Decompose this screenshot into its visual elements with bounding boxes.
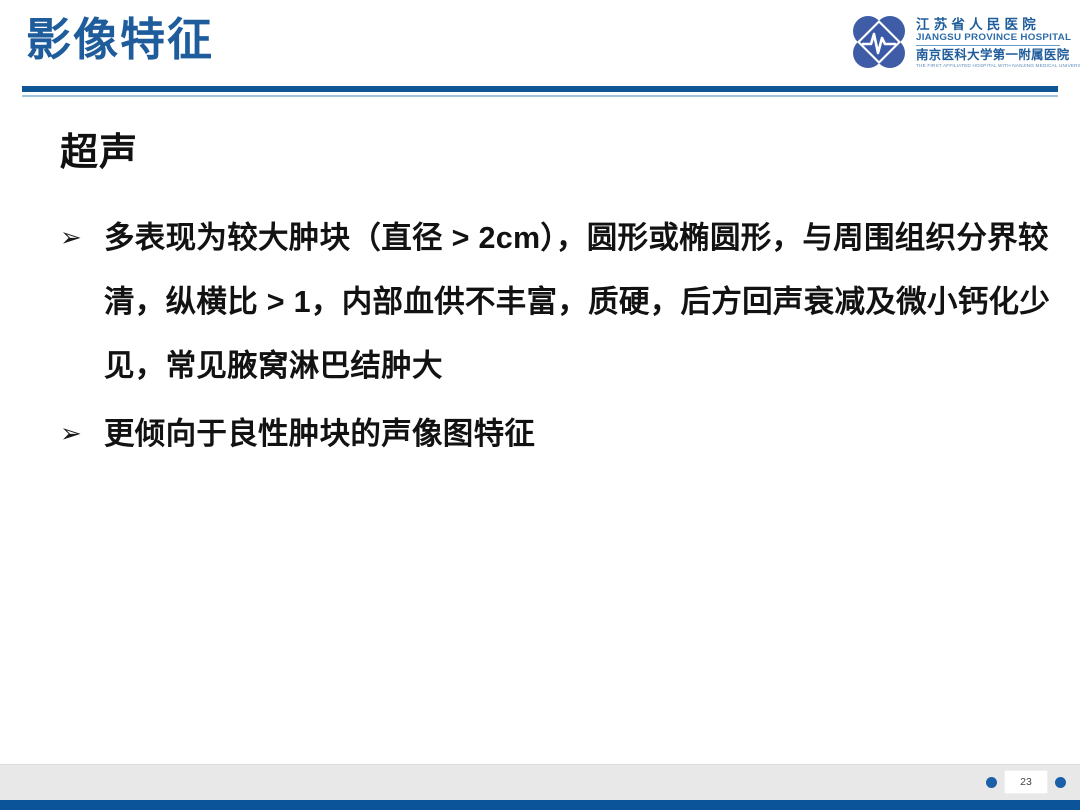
bullet-text: 多表现为较大肿块（直径 > 2cm），圆形或椭圆形，与周围组织分界较清，纵横比 … [104,206,1056,398]
hospital-affiliation-cn: 南京医科大学第一附属医院 [916,48,1080,62]
hospital-name-en: JIANGSU PROVINCE HOSPITAL [916,32,1080,43]
footer-band [0,764,1080,801]
hospital-logo-text: 江苏省人民医院 JIANGSU PROVINCE HOSPITAL 南京医科大学… [916,15,1080,69]
header-divider-thick [22,86,1058,92]
header-divider-thin [22,95,1058,97]
arrow-bullet-icon: ➢ [56,402,104,466]
pager-next-dot[interactable] [1055,777,1066,788]
slide-pager: 23 [986,770,1066,794]
logo-divider [916,45,1060,46]
bullet-list: ➢ 多表现为较大肿块（直径 > 2cm），圆形或椭圆形，与周围组织分界较清，纵横… [56,206,1056,470]
arrow-bullet-icon: ➢ [56,206,104,270]
footer-bar [0,800,1080,810]
hospital-flower-ecg-icon [848,11,910,73]
page-title: 影像特征 [26,8,214,72]
hospital-name-cn: 江苏省人民医院 [916,17,1080,32]
list-item: ➢ 更倾向于良性肿块的声像图特征 [56,402,1056,466]
pager-prev-dot[interactable] [986,777,997,788]
page-number: 23 [1004,770,1048,794]
bullet-text: 更倾向于良性肿块的声像图特征 [104,402,1056,466]
hospital-logo: 江苏省人民医院 JIANGSU PROVINCE HOSPITAL 南京医科大学… [848,8,1066,76]
list-item: ➢ 多表现为较大肿块（直径 > 2cm），圆形或椭圆形，与周围组织分界较清，纵横… [56,206,1056,398]
slide: 影像特征 江苏省人民医院 JIA [0,0,1080,810]
slide-header: 影像特征 江苏省人民医院 JIA [0,0,1080,92]
hospital-affiliation-en: THE FIRST AFFILIATED HOSPITAL WITH NANJI… [916,62,1080,69]
section-heading: 超声 [60,128,138,178]
